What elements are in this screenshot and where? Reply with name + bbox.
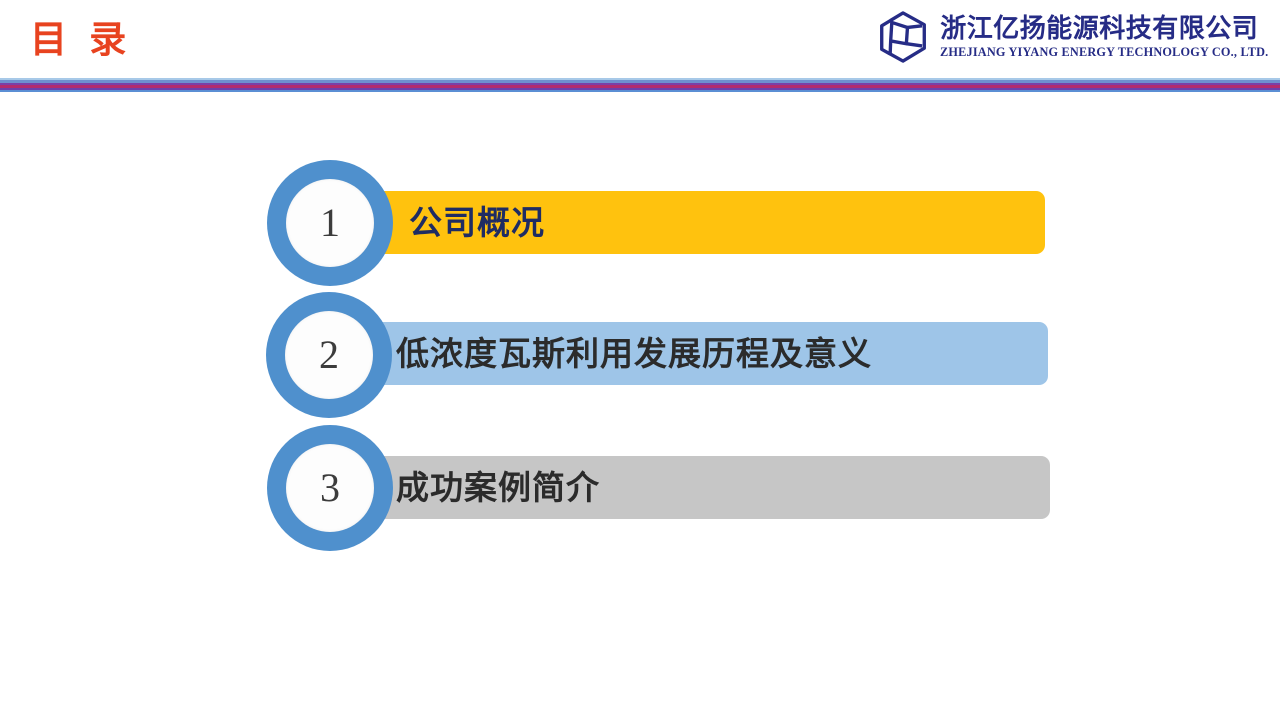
toc-circle-inner-2: 2 [285,311,373,399]
toc-list: 公司概况 1 低浓度瓦斯利用发展历程及意义 2 成功案例简介 3 [0,0,1280,720]
toc-circle-2[interactable]: 2 [266,292,392,418]
toc-item-1[interactable]: 公司概况 1 [0,155,1280,289]
toc-circle-1[interactable]: 1 [267,160,393,286]
toc-label-3: 成功案例简介 [396,471,600,504]
toc-number-2: 2 [319,335,339,375]
toc-label-1: 公司概况 [409,206,545,239]
toc-circle-inner-1: 1 [286,179,374,267]
toc-circle-3[interactable]: 3 [267,425,393,551]
toc-number-3: 3 [320,468,340,508]
toc-bar-3[interactable]: 成功案例简介 [372,456,1050,519]
toc-label-2: 低浓度瓦斯利用发展历程及意义 [396,337,872,370]
toc-item-3[interactable]: 成功案例简介 3 [0,420,1280,554]
toc-circle-inner-3: 3 [286,444,374,532]
toc-bar-2[interactable]: 低浓度瓦斯利用发展历程及意义 [372,322,1048,385]
toc-number-1: 1 [320,203,340,243]
toc-item-2[interactable]: 低浓度瓦斯利用发展历程及意义 2 [0,287,1280,421]
toc-bar-1[interactable]: 公司概况 [375,191,1045,254]
